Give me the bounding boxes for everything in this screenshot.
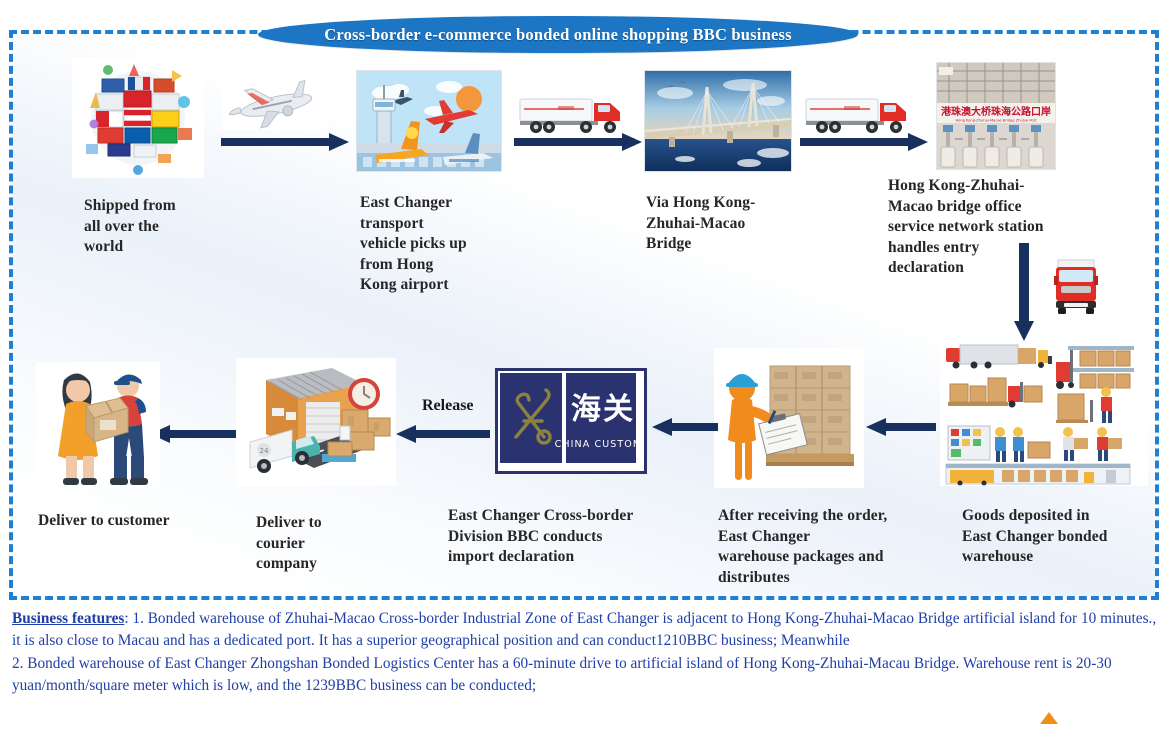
worker-pallet-image — [714, 348, 864, 488]
svg-text:CHINA CUSTOMS: CHINA CUSTOMS — [555, 439, 638, 450]
svg-text:港珠澳大桥珠海公路口岸: 港珠澳大桥珠海公路口岸 — [941, 105, 1051, 118]
arrow-origin-to-airport — [221, 133, 349, 151]
business-features-note: Business features: 1. Bonded warehouse o… — [12, 608, 1162, 698]
svg-text:海: 海 — [571, 392, 601, 427]
orange-triangle-marker — [1040, 712, 1058, 724]
border-checkpoint-image: 港珠澳大桥珠海公路口岸 Hong Kong-Zhuhai-Macao Bridg… — [936, 62, 1056, 170]
svg-text:Hong Kong-Zhuhai-Macao Bridge: Hong Kong-Zhuhai-Macao Bridge Zhuhai Por… — [955, 119, 1037, 123]
arrow-customs-to-courier — [396, 425, 490, 443]
world-globe-flags-image — [72, 58, 204, 178]
caption-customer: Deliver to customer — [38, 511, 238, 532]
caption-bonded-warehouse: Goods deposited in East Changer bonded w… — [962, 506, 1158, 568]
airplane-image — [222, 78, 322, 130]
caption-china-customs: East Changer Cross-border Division BBC c… — [448, 506, 698, 568]
caption-bridge: Via Hong Kong- Zhuhai-Macao Bridge — [646, 193, 806, 255]
cargo-truck-image — [518, 93, 628, 135]
arrow-bridge-to-port — [800, 133, 928, 151]
caption-origin: Shipped from all over the world — [84, 196, 234, 258]
caption-order-packing: After receiving the order, East Changer … — [718, 506, 938, 588]
arrow-port-to-warehouse-down — [1014, 243, 1034, 341]
china-customs-emblem: 海 关 CHINA CUSTOMS — [495, 368, 647, 474]
warehouse-operations-image — [940, 342, 1148, 486]
handover-parcel-image — [36, 362, 160, 488]
release-label: Release — [422, 397, 474, 415]
arrow-warehouse-to-packing — [866, 418, 936, 436]
cargo-truck-image-2 — [804, 93, 914, 135]
depot-truck-image: 24 — [236, 358, 396, 486]
airport-runway-image — [356, 70, 502, 172]
caption-hk-airport: East Changer transport vehicle picks up … — [360, 193, 520, 296]
red-truck-front-image — [1052, 258, 1100, 316]
business-features-item-1: 1. Bonded warehouse of Zhuhai-Macao Cros… — [12, 610, 1156, 649]
page-title: Cross-border e-commerce bonded online sh… — [324, 25, 791, 45]
business-features-item-2: 2. Bonded warehouse of East Changer Zhon… — [12, 653, 1162, 698]
business-features-heading: Business features — [12, 610, 124, 627]
caption-courier: Deliver to courier company — [256, 513, 416, 575]
diagram-title-banner: Cross-border e-commerce bonded online sh… — [258, 16, 858, 53]
arrow-packing-to-customs — [652, 418, 718, 436]
svg-text:24: 24 — [260, 447, 269, 455]
arrow-courier-to-customer — [150, 425, 236, 443]
svg-text:关: 关 — [603, 392, 633, 427]
arrow-airport-to-bridge — [514, 133, 642, 151]
bridge-image — [644, 70, 792, 172]
